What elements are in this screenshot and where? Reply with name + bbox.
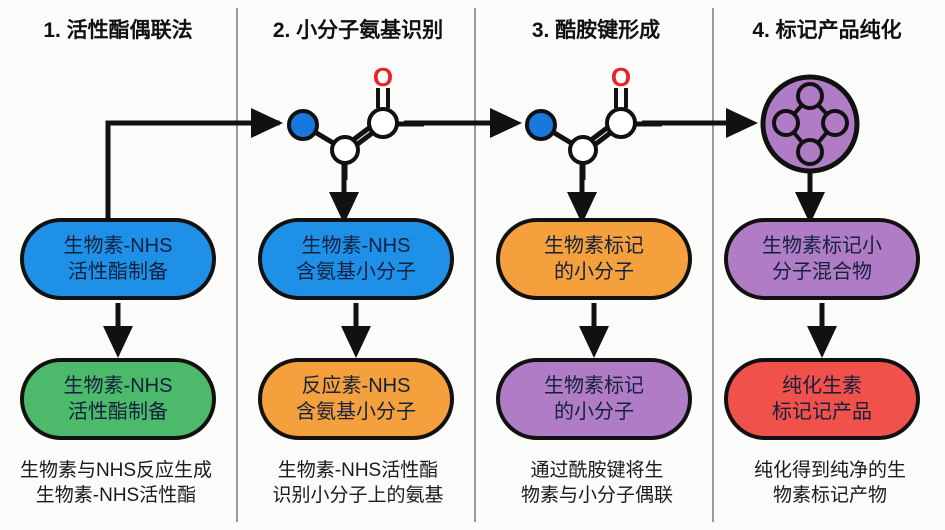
- box-col1-top-line1: 生物素-NHS: [64, 233, 173, 259]
- box-col2-top-line1: 生物素-NHS: [302, 233, 411, 259]
- box-col4-bottom[interactable]: 纯化生素 标记记产品: [724, 358, 920, 440]
- caption-col4-line2: 物素标记产物: [710, 483, 945, 508]
- atom-white-col2-b: [369, 109, 397, 137]
- purification-circle-col4: [763, 77, 857, 171]
- box-col3-top[interactable]: 生物素标记 的小分子: [496, 218, 692, 300]
- box-col2-top-line2: 含氨基小分子: [296, 259, 416, 285]
- box-col2-top[interactable]: 生物素-NHS 含氨基小分子: [258, 218, 454, 300]
- box-col4-bottom-line1: 纯化生素: [782, 373, 862, 399]
- caption-col2: 生物素-NHS活性酯 识别小分子上的氨基: [238, 458, 478, 508]
- purification-node-top: [798, 84, 822, 108]
- box-col2-bottom[interactable]: 反应素-NHS 含氨基小分子: [258, 358, 454, 440]
- caption-col3-line1: 通过酰胺键将生: [477, 458, 717, 483]
- box-col1-bottom-line1: 生物素-NHS: [64, 373, 173, 399]
- caption-col1: 生物素与NHS反应生成 生物素-NHS活性酯: [0, 458, 236, 508]
- diagram-canvas: 1. 活性酯偶联法 2. 小分子氨基识别 3. 酷胺键形成 4. 标记产品纯化: [0, 0, 945, 530]
- caption-col2-line1: 生物素-NHS活性酯: [238, 458, 478, 483]
- box-col1-bottom[interactable]: 生物素-NHS 活性酯制备: [20, 358, 216, 440]
- caption-col3-line2: 物素与小分子偶联: [477, 483, 717, 508]
- box-col3-bottom-line1: 生物素标记: [544, 373, 644, 399]
- box-col4-top-line1: 生物素标记小: [762, 233, 882, 259]
- purification-node-bottom: [798, 140, 822, 164]
- atom-white-col3-b: [607, 109, 635, 137]
- box-col4-bottom-line2: 标记记产品: [772, 399, 872, 425]
- caption-col3: 通过酰胺键将生 物素与小分子偶联: [477, 458, 717, 508]
- oxygen-label-col2: O: [373, 62, 393, 92]
- caption-col4: 纯化得到纯净的生 物素标记产物: [710, 458, 945, 508]
- box-col3-bottom[interactable]: 生物素标记 的小分子: [496, 358, 692, 440]
- box-col4-top-line2: 分子混合物: [772, 259, 872, 285]
- caption-col1-line2: 生物素-NHS活性酯: [0, 483, 236, 508]
- caption-col1-line1: 生物素与NHS反应生成: [0, 458, 236, 483]
- box-col2-bottom-line1: 反应素-NHS: [302, 373, 411, 399]
- molecule-col3: O: [527, 62, 662, 180]
- box-col3-top-line2: 的小分子: [554, 259, 634, 285]
- atom-blue-col3: [527, 111, 555, 139]
- caption-col2-line2: 识别小分子上的氨基: [238, 483, 478, 508]
- box-col3-bottom-line2: 的小分子: [554, 399, 634, 425]
- box-col3-top-line1: 生物素标记: [544, 233, 644, 259]
- atom-white-col3-a: [570, 137, 596, 163]
- molecule-col2: O: [289, 62, 424, 180]
- atom-blue-col2: [289, 111, 317, 139]
- purification-node-left: [774, 111, 798, 135]
- atom-white-col2-a: [332, 137, 358, 163]
- caption-col4-line1: 纯化得到纯净的生: [710, 458, 945, 483]
- box-col2-bottom-line2: 含氨基小分子: [296, 399, 416, 425]
- oxygen-label-col3: O: [611, 62, 631, 92]
- box-col1-top[interactable]: 生物素-NHS 活性酯制备: [20, 218, 216, 300]
- purification-node-right: [823, 111, 847, 135]
- box-col4-top[interactable]: 生物素标记小 分子混合物: [724, 218, 920, 300]
- box-col1-top-line2: 活性酯制备: [68, 259, 168, 285]
- box-col1-bottom-line2: 活性酯制备: [68, 399, 168, 425]
